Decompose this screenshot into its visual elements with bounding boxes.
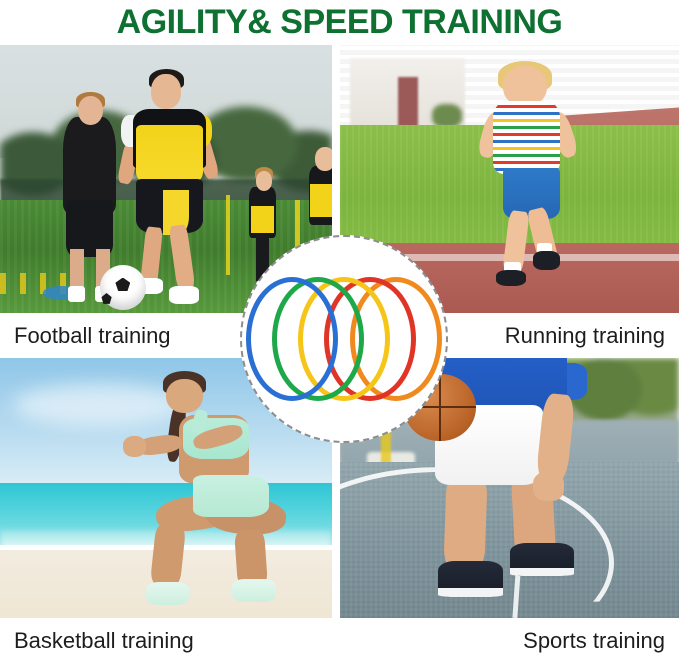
training-pole [226,195,231,275]
agility-rings-group [246,275,442,403]
page-title-bar: AGILITY& SPEED TRAINING [0,0,679,45]
page-title: AGILITY& SPEED TRAINING [117,3,563,42]
child-shoe-left [496,270,527,286]
woman-shorts [193,475,269,517]
man-shoe-right [510,543,574,577]
ring-blue [246,277,338,401]
man-leg-left [443,474,487,569]
cloud [13,384,186,426]
man-hand [533,472,564,501]
background-player-head [256,171,273,191]
background-player-bib [251,206,274,233]
caption-sports-training: Sports training [523,618,665,653]
caption-running-training: Running training [505,313,665,358]
player-yellow-bib [136,125,202,184]
child-shoe-right [533,251,560,270]
coach-torso [63,117,116,213]
man-shoe-left [438,561,502,597]
stadium-doorway [398,77,418,128]
product-infographic: AGILITY& SPEED TRAINING [0,0,679,653]
woman-head [166,379,203,413]
soccer-ball [100,265,146,311]
coach-head [78,96,103,125]
background-player-head [315,147,332,171]
coach-sock-left [68,286,85,302]
caption-basketball-training: Basketball training [14,618,194,653]
caption-football-training: Football training [14,313,171,358]
agility-rings-inset [240,235,448,443]
woman-shoe-right [232,579,275,602]
child-striped-shirt [493,101,561,173]
woman-clasped-hands [123,436,146,457]
player-head [151,74,181,109]
background-player-bib [310,184,332,216]
woman-shoe-left [146,582,189,605]
player-boot-right [169,286,199,303]
